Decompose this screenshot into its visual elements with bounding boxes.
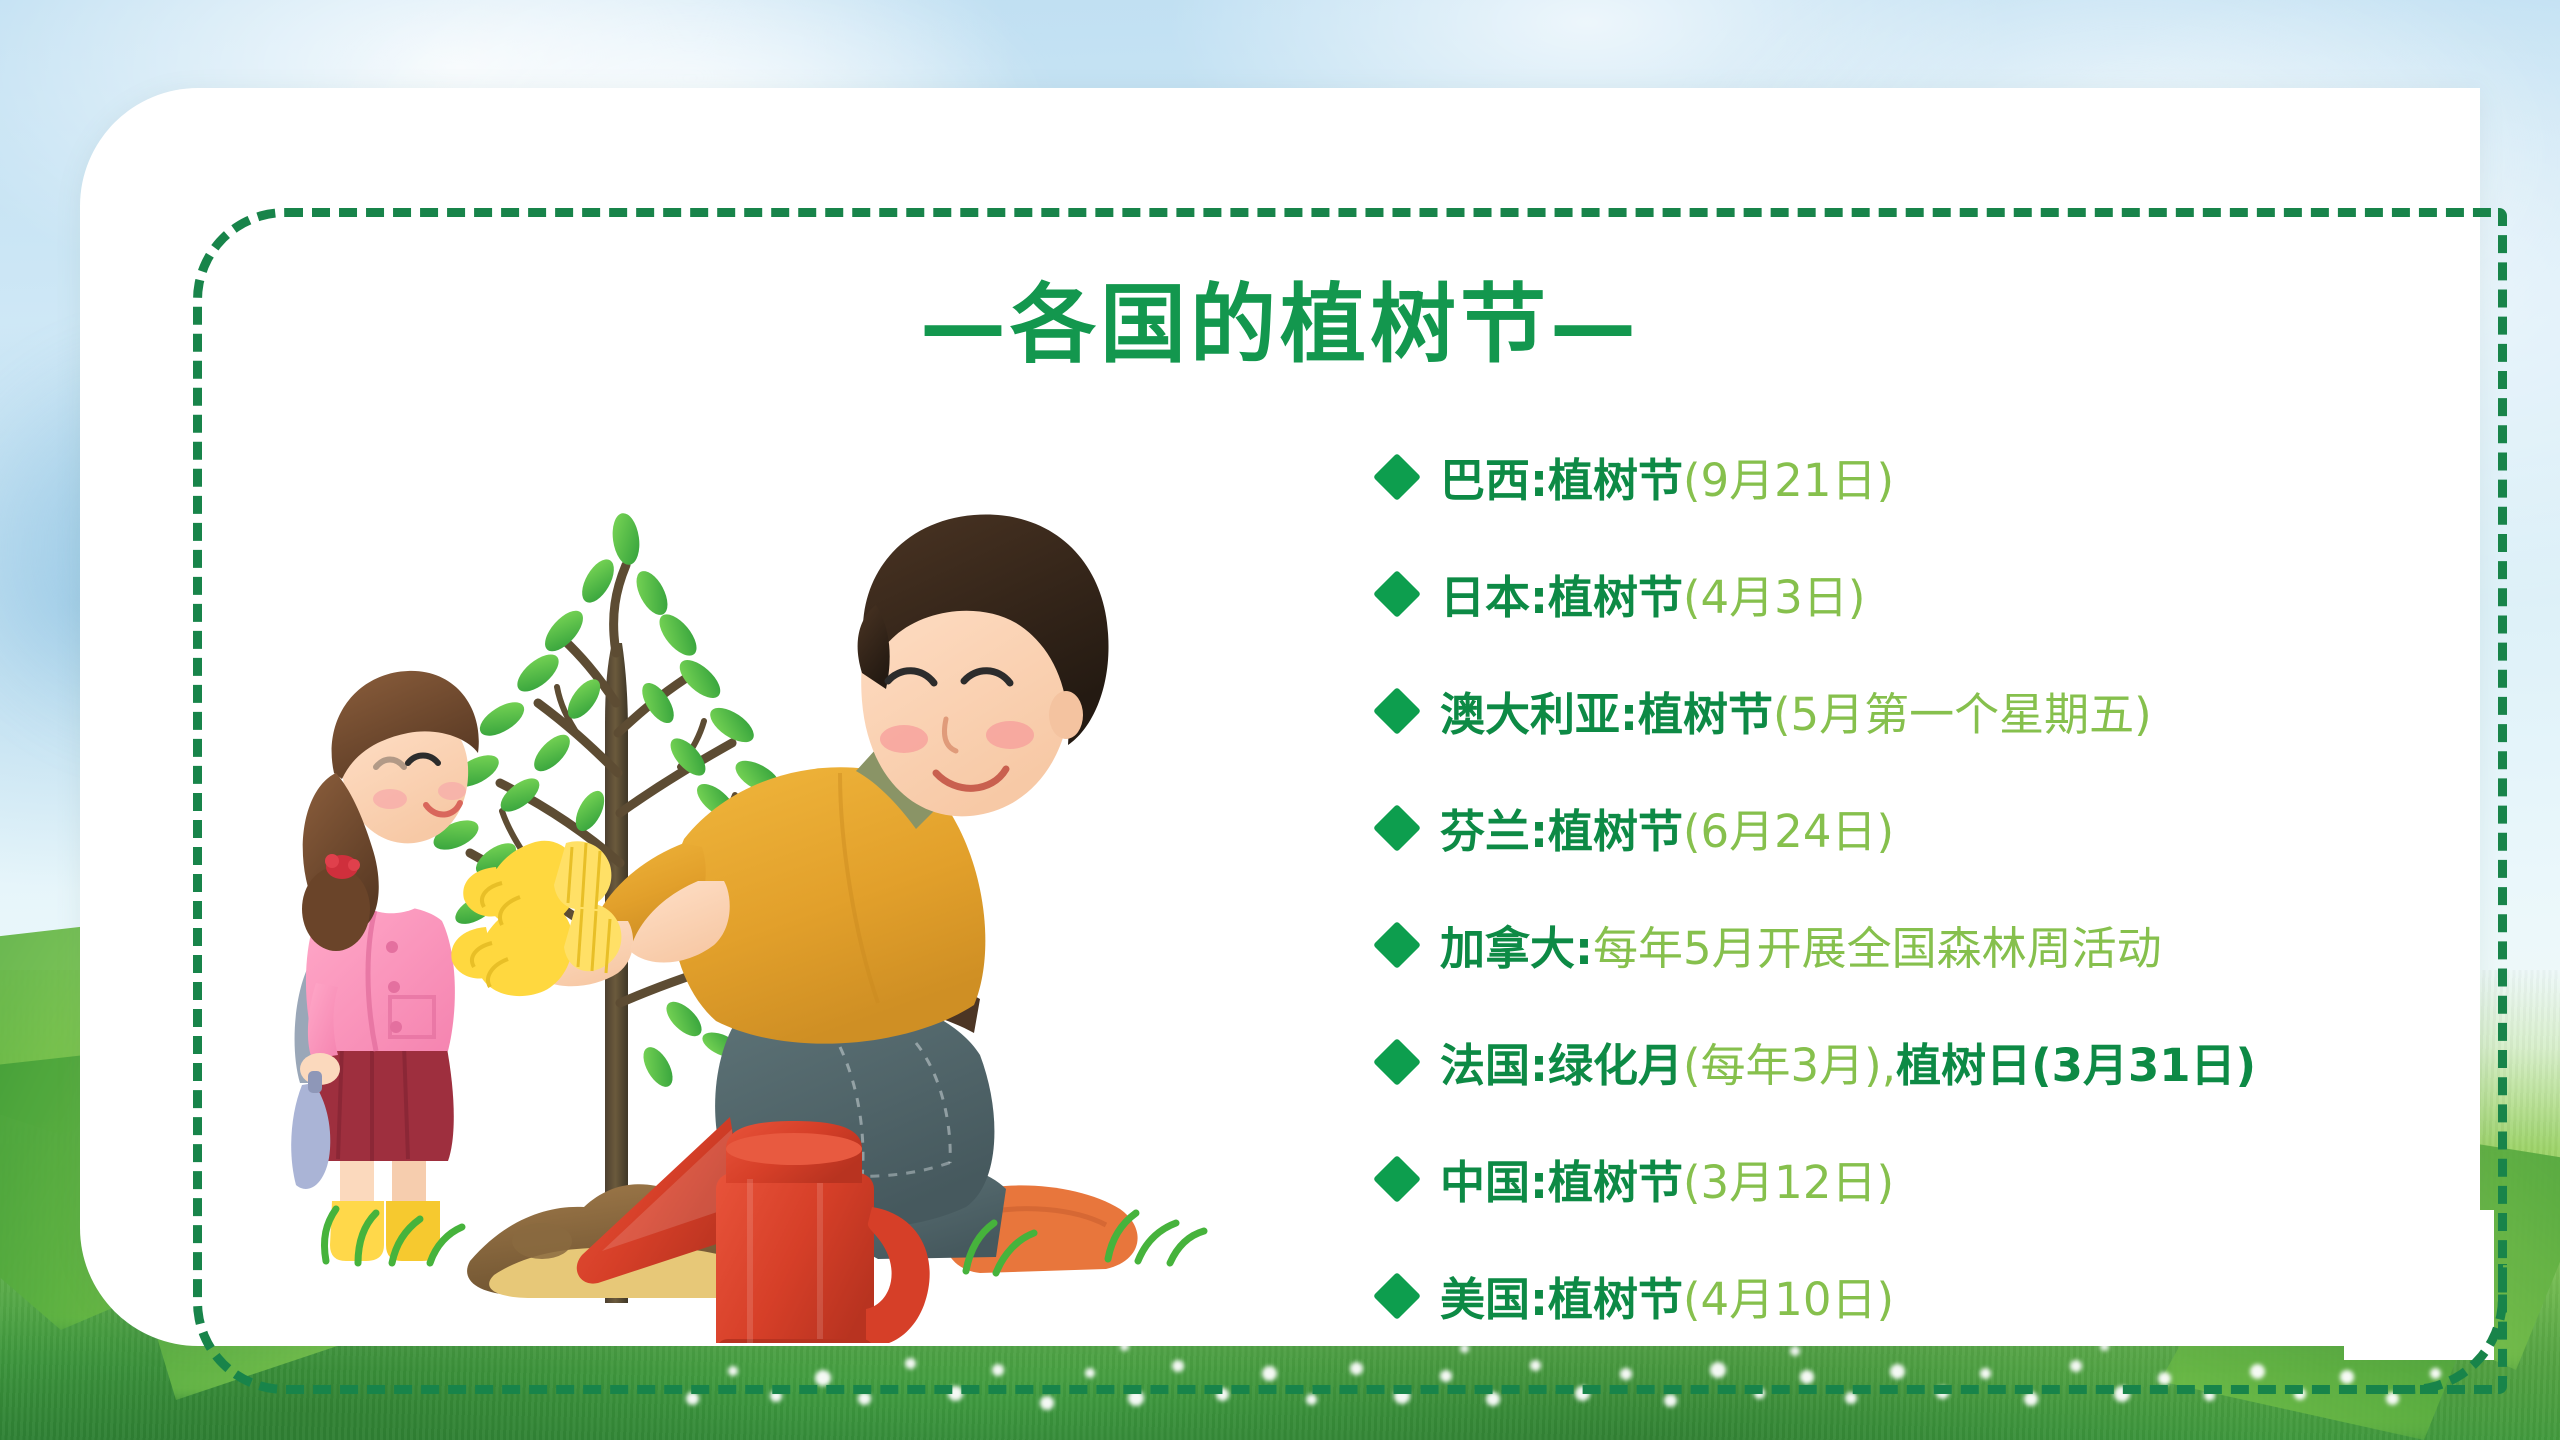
list-item-value: (每年3月), — [1683, 1029, 1896, 1094]
flower-icon — [1306, 1394, 1317, 1405]
country-arbor-day-list: 巴西:植树节(9月21日)日本:植树节(4月3日)澳大利亚:植树节 (5月第一个… — [1380, 418, 2560, 1354]
list-item-value: (4月3日) — [1683, 561, 1865, 626]
list-item-value-secondary: 植树日(3月31日) — [1896, 1029, 2256, 1094]
list-item[interactable]: 巴西:植树节(9月21日) — [1380, 418, 2560, 535]
list-item-label: 法国:绿化月 — [1440, 1029, 1683, 1094]
list-item-label: 日本:植树节 — [1440, 561, 1683, 626]
diamond-bullet-icon — [1373, 569, 1421, 617]
list-item-label: 加拿大: — [1440, 912, 1593, 977]
diamond-bullet-icon — [1373, 1037, 1421, 1085]
diamond-bullet-icon — [1373, 686, 1421, 734]
flower-icon — [1486, 1392, 1500, 1406]
list-item-value: (9月21日) — [1683, 444, 1894, 509]
flower-icon — [1664, 1394, 1677, 1407]
illustration-father-and-daughter-planting-tree — [280, 343, 1240, 1343]
content-card: —各国的植树节— — [80, 88, 2480, 1346]
list-item[interactable]: 美国:植树节(4月10日) — [1380, 1237, 2560, 1354]
diamond-bullet-icon — [1373, 452, 1421, 500]
list-item[interactable]: 法国:绿化月(每年3月), 植树日(3月31日) — [1380, 1003, 2560, 1120]
page-title: —各国的植树节— — [80, 254, 2480, 379]
list-item-label: 巴西:植树节 — [1440, 444, 1683, 509]
list-item-value: 每年5月开展全国森林周活动 — [1593, 912, 2162, 977]
list-item[interactable]: 加拿大:每年5月开展全国森林周活动 — [1380, 886, 2560, 1003]
list-item-label: 中国:植树节 — [1440, 1146, 1683, 1211]
list-item[interactable]: 日本:植树节(4月3日) — [1380, 535, 2560, 652]
list-item[interactable]: 芬兰:植树节(6月24日) — [1380, 769, 2560, 886]
diamond-bullet-icon — [1373, 1271, 1421, 1319]
diamond-bullet-icon — [1373, 1154, 1421, 1202]
list-item[interactable]: 澳大利亚:植树节 (5月第一个星期五) — [1380, 652, 2560, 769]
list-item-label: 美国:植树节 — [1440, 1263, 1683, 1328]
flower-icon — [1040, 1396, 1054, 1410]
list-item[interactable]: 中国:植树节(3月12日) — [1380, 1120, 2560, 1237]
list-item-value: (4月10日) — [1683, 1263, 1894, 1328]
list-item-value: (6月24日) — [1683, 795, 1894, 860]
list-item-label: 澳大利亚:植树节 — [1440, 678, 1773, 743]
list-item-value: (3月12日) — [1683, 1146, 1894, 1211]
diamond-bullet-icon — [1373, 803, 1421, 851]
girl-figure-icon — [291, 671, 479, 1263]
diamond-bullet-icon — [1373, 920, 1421, 968]
list-item-label: 芬兰:植树节 — [1440, 795, 1683, 860]
flower-icon — [2024, 1392, 2038, 1406]
list-item-value: (5月第一个星期五) — [1773, 678, 2152, 743]
